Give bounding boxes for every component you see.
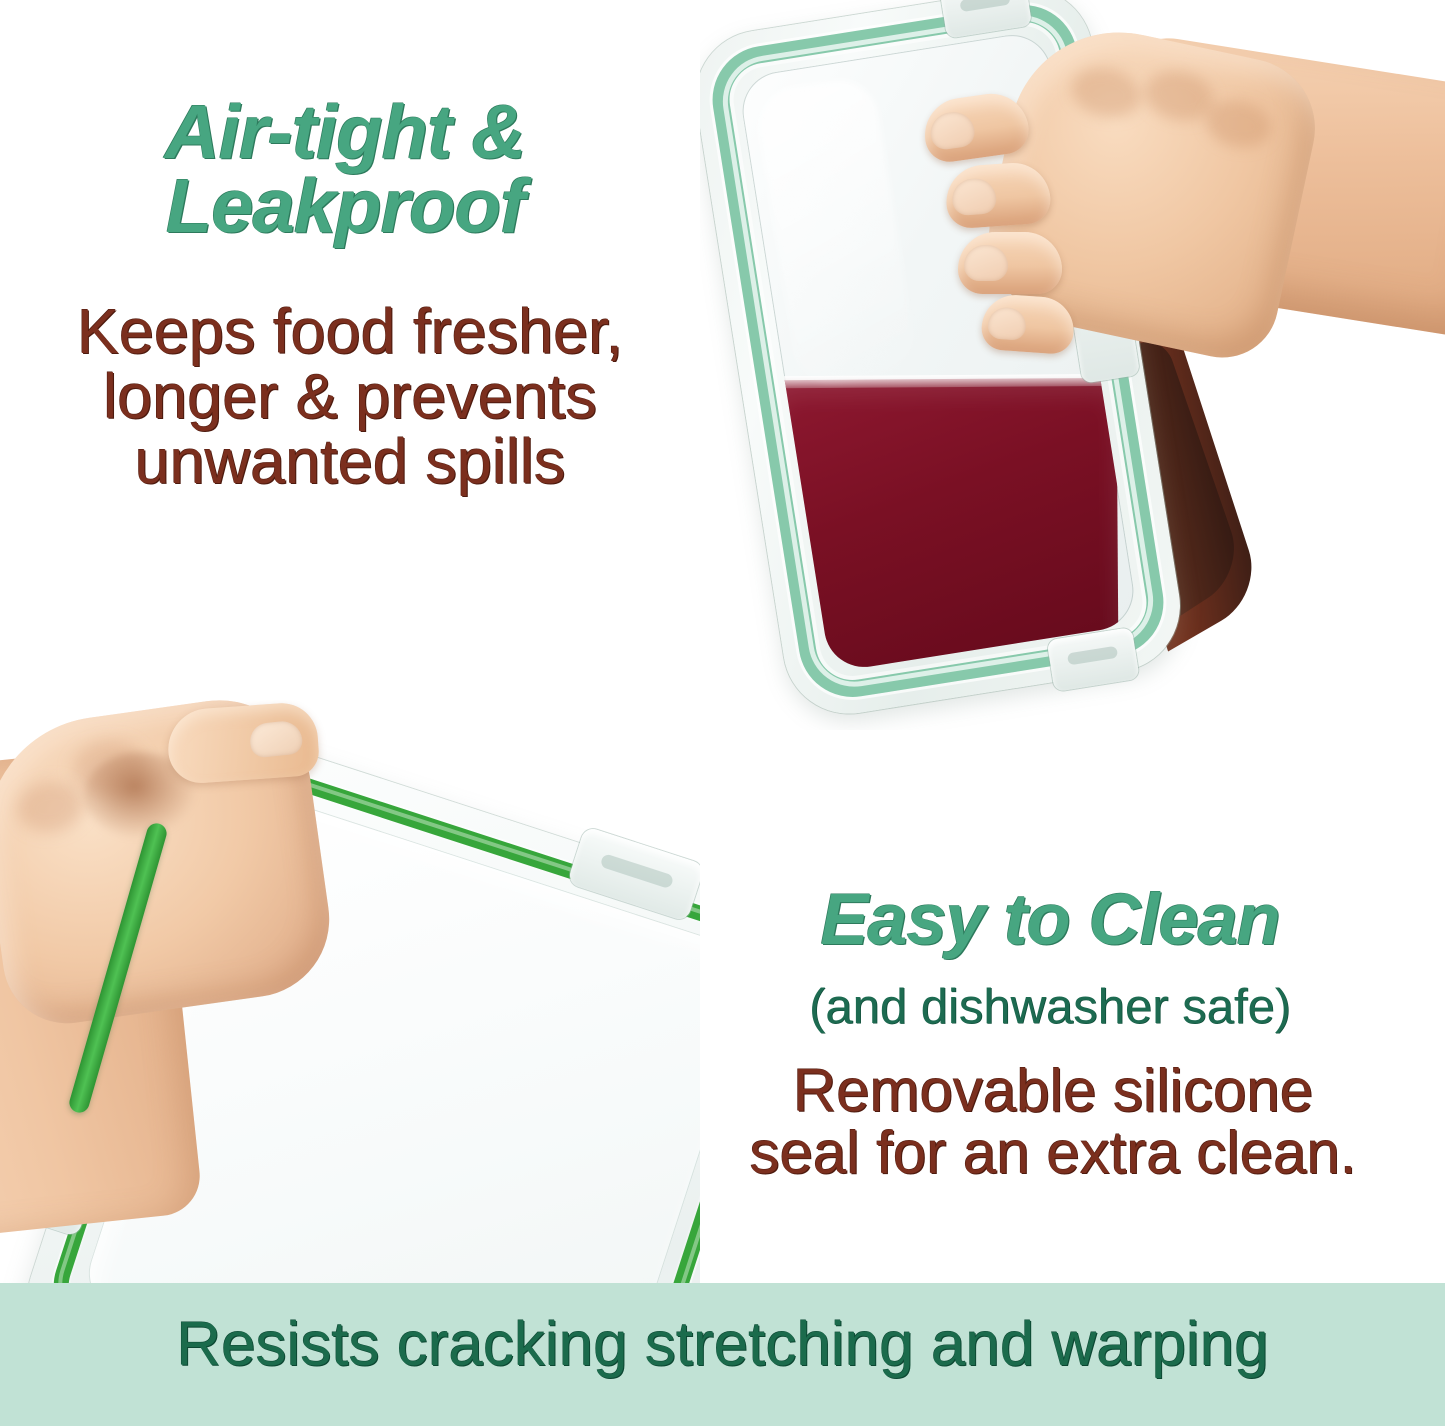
subhead-dishwasher-safe: (and dishwasher safe) (700, 982, 1400, 1033)
body-airtight-line3: unwanted spills (0, 430, 700, 495)
product-photo-leakproof (700, 0, 1445, 730)
body-removable-seal-line1: Removable silicone (698, 1060, 1408, 1122)
red-liquid (776, 378, 1118, 673)
bottom-banner: Resists cracking stretching and warping (0, 1283, 1445, 1426)
glass-sheen (753, 75, 918, 390)
banner-text: Resists cracking stretching and warping (0, 1314, 1445, 1376)
body-airtight: Keeps food fresher, longer & prevents un… (0, 300, 700, 495)
headline-airtight-line2: Leakproof (0, 170, 690, 244)
body-airtight-line1: Keeps food fresher, (0, 300, 700, 365)
body-removable-seal: Removable silicone seal for an extra cle… (698, 1060, 1408, 1184)
headline-airtight: Air-tight & Leakproof (0, 96, 690, 245)
infographic-canvas: Air-tight & Leakproof Keeps food fresher… (0, 0, 1445, 1426)
headline-easy-to-clean: Easy to Clean (700, 885, 1400, 956)
finger-3 (958, 232, 1062, 294)
body-removable-seal-line2: seal for an extra clean. (698, 1122, 1408, 1184)
product-photo-removable-seal (0, 700, 700, 1300)
body-airtight-line2: longer & prevents (0, 365, 700, 430)
headline-airtight-line1: Air-tight & (165, 90, 525, 175)
